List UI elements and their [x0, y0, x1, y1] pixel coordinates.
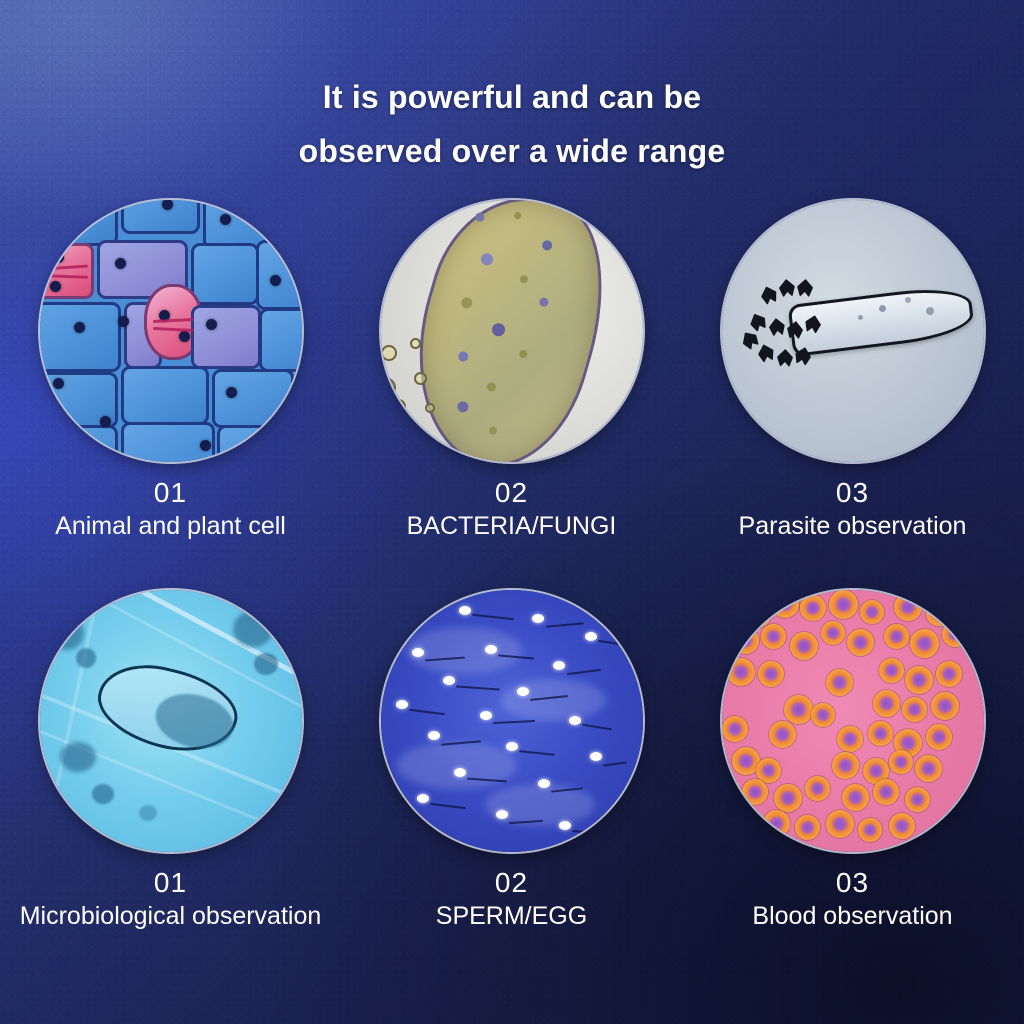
- scope-wrap-microbiological: [40, 590, 302, 852]
- feature-number: 02: [341, 476, 682, 510]
- scope-wrap-sperm-egg: [381, 590, 643, 852]
- feature-label: BACTERIA/FUNGI: [341, 510, 682, 543]
- feature-row-1: 01 Animal and plant cell: [0, 200, 1024, 590]
- rotifer-micrograph[interactable]: [40, 590, 302, 852]
- caption-plant-cell: 01 Animal and plant cell: [0, 476, 341, 543]
- feature-card-bacteria-fungi[interactable]: 02 BACTERIA/FUNGI: [341, 200, 682, 590]
- feature-grid: 01 Animal and plant cell: [0, 200, 1024, 980]
- feature-card-microbiological[interactable]: 01 Microbiological observation: [0, 590, 341, 980]
- feature-card-blood[interactable]: 03 Blood observation: [682, 590, 1023, 980]
- feature-card-parasite[interactable]: 03 Parasite observation: [682, 200, 1023, 590]
- caption-bacteria-fungi: 02 BACTERIA/FUNGI: [341, 476, 682, 543]
- feature-card-sperm-egg[interactable]: 02 SPERM/EGG: [341, 590, 682, 980]
- headline-line-2: observed over a wide range: [0, 124, 1024, 178]
- feature-label: SPERM/EGG: [341, 900, 682, 933]
- scope-wrap-blood: [722, 590, 984, 852]
- feature-card-plant-cell[interactable]: 01 Animal and plant cell: [0, 200, 341, 590]
- feature-number: 03: [682, 476, 1023, 510]
- page-content: It is powerful and can be observed over …: [0, 0, 1024, 1024]
- feature-label: Parasite observation: [682, 510, 1023, 543]
- feature-number: 03: [682, 866, 1023, 900]
- feature-label: Blood observation: [682, 900, 1023, 933]
- scope-wrap-parasite: [722, 200, 984, 462]
- caption-parasite: 03 Parasite observation: [682, 476, 1023, 543]
- parasite-scolex-micrograph[interactable]: [722, 200, 984, 462]
- blood-cells-micrograph[interactable]: [722, 590, 984, 852]
- feature-label: Microbiological observation: [0, 900, 341, 933]
- sperm-micrograph[interactable]: [381, 590, 643, 852]
- scope-wrap-bacteria-fungi: [381, 200, 643, 462]
- feature-number: 02: [341, 866, 682, 900]
- headline-line-1: It is powerful and can be: [0, 70, 1024, 124]
- feature-row-2: 01 Microbiological observation: [0, 590, 1024, 980]
- page-headline: It is powerful and can be observed over …: [0, 70, 1024, 178]
- caption-sperm-egg: 02 SPERM/EGG: [341, 866, 682, 933]
- caption-blood: 03 Blood observation: [682, 866, 1023, 933]
- feature-label: Animal and plant cell: [0, 510, 341, 543]
- plant-cell-micrograph[interactable]: [40, 200, 302, 462]
- scope-wrap-plant-cell: [40, 200, 302, 462]
- caption-microbiological: 01 Microbiological observation: [0, 866, 341, 933]
- paramecium-micrograph[interactable]: [381, 200, 643, 462]
- feature-number: 01: [0, 866, 341, 900]
- feature-number: 01: [0, 476, 341, 510]
